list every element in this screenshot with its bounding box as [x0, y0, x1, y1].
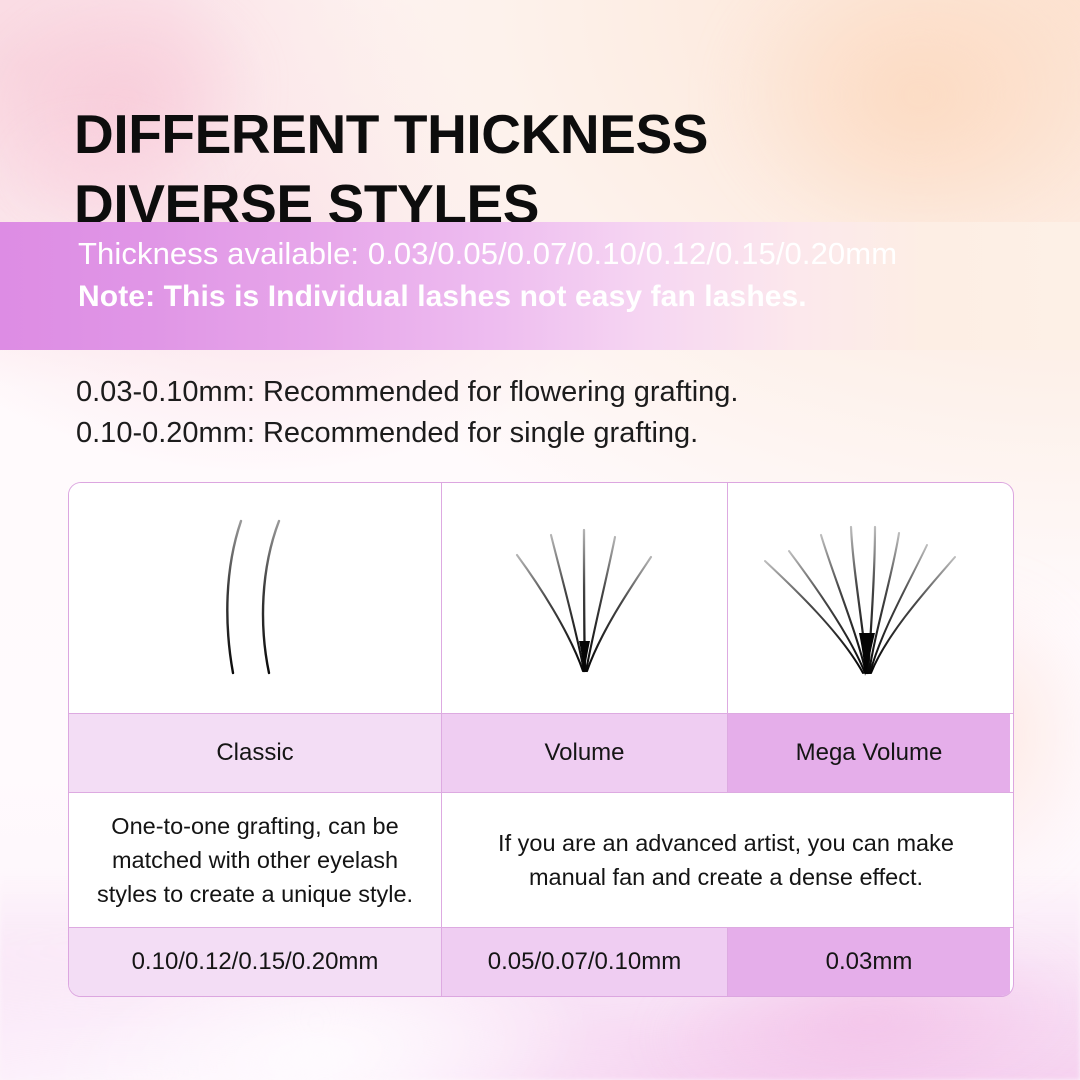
description-text: If you are an advanced artist, you can m… — [468, 826, 984, 895]
poster-canvas: DIFFERENT THICKNESS DIVERSE STYLES Thick… — [0, 0, 1080, 1080]
sizes-classic: 0.10/0.12/0.15/0.20mm — [69, 928, 442, 996]
recommendation-item: 0.03-0.10mm: Recommended for flowering g… — [76, 372, 738, 413]
recommendation-item: 0.10-0.20mm: Recommended for single graf… — [76, 413, 738, 454]
sizes-volume: 0.05/0.07/0.10mm — [442, 928, 728, 996]
style-label-mega-volume: Mega Volume — [728, 714, 1010, 792]
page-title: DIFFERENT THICKNESS DIVERSE STYLES — [74, 99, 954, 240]
description-volume-mega: If you are an advanced artist, you can m… — [442, 793, 1010, 927]
style-label-classic: Classic — [69, 714, 442, 792]
thickness-banner: Thickness available: 0.03/0.05/0.07/0.10… — [0, 222, 1080, 350]
lash-style-comparison-table: Classic Volume Mega Volume One-to-one gr… — [68, 482, 1014, 997]
page-title-line-1: DIFFERENT THICKNESS — [74, 103, 708, 165]
table-row-thickness-sizes: 0.10/0.12/0.15/0.20mm 0.05/0.07/0.10mm 0… — [69, 928, 1013, 996]
table-row-descriptions: One-to-one grafting, can be matched with… — [69, 793, 1013, 928]
recommendation-list: 0.03-0.10mm: Recommended for flowering g… — [76, 372, 738, 454]
description-classic: One-to-one grafting, can be matched with… — [69, 793, 442, 927]
classic-lash-cell — [69, 483, 442, 713]
mega-volume-fan-icon — [759, 513, 979, 683]
sizes-mega-volume: 0.03mm — [728, 928, 1010, 996]
description-text: One-to-one grafting, can be matched with… — [95, 809, 415, 912]
banner-note-text: Note: This is Individual lashes not easy… — [78, 280, 807, 314]
volume-fan-icon — [495, 513, 675, 683]
volume-lash-cell — [442, 483, 728, 713]
thickness-available-text: Thickness available: 0.03/0.05/0.07/0.10… — [78, 236, 897, 272]
style-label-volume: Volume — [442, 714, 728, 792]
classic-lash-icon — [195, 513, 315, 683]
mega-volume-lash-cell — [728, 483, 1010, 713]
table-row-style-labels: Classic Volume Mega Volume — [69, 714, 1013, 793]
table-row-illustrations — [69, 483, 1013, 714]
